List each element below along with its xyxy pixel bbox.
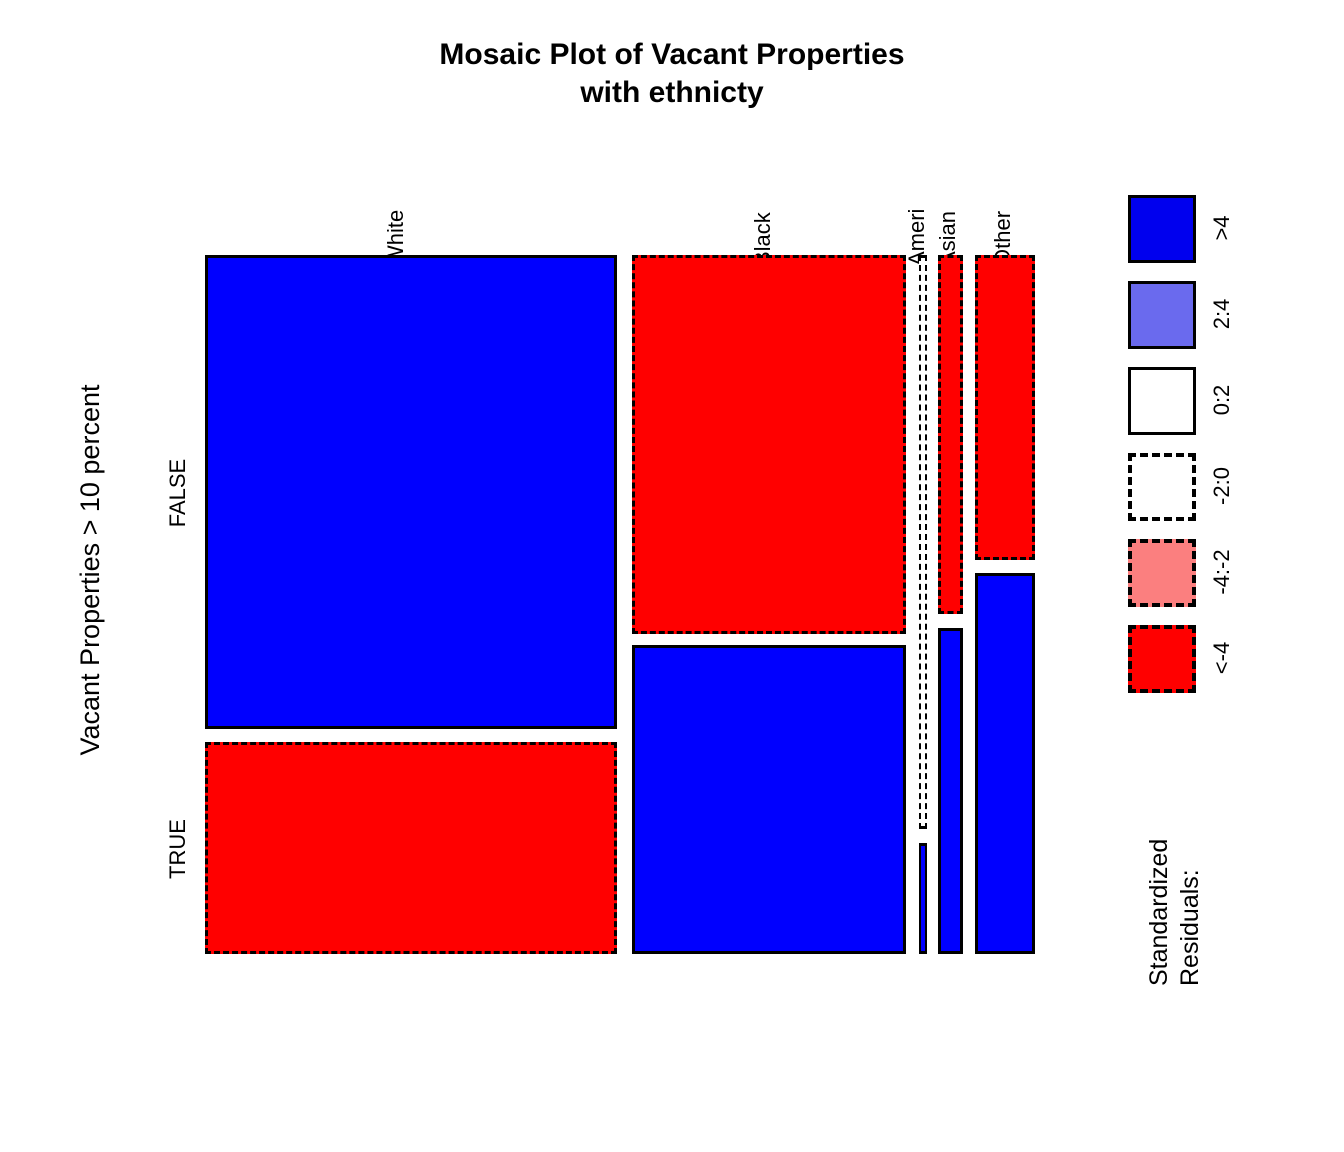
legend-swatch-4[interactable] <box>1128 539 1196 607</box>
legend-swatch-1[interactable] <box>1128 281 1196 349</box>
y-axis-label: Vacant Properties > 10 percent <box>75 310 105 830</box>
legend-swatch-2[interactable] <box>1128 367 1196 435</box>
legend-title-line-1: Standardized <box>1144 786 1175 986</box>
mosaic-tile-asian-false[interactable] <box>938 255 963 614</box>
mosaic-tile-white-false[interactable] <box>205 255 617 729</box>
mosaic-tile-other-true[interactable] <box>975 573 1035 954</box>
legend-label-3: -2:0 <box>1209 441 1235 531</box>
legend-label-4: -4:-2 <box>1209 527 1235 617</box>
row-label-false: FALSE <box>165 453 191 533</box>
mosaic-tile-black-true[interactable] <box>632 645 906 954</box>
chart-title-line-1: Mosaic Plot of Vacant Properties <box>439 38 904 71</box>
mosaic-tile-other-false[interactable] <box>975 255 1035 560</box>
legend-swatch-0[interactable] <box>1128 195 1196 263</box>
legend-label-5: <-4 <box>1209 613 1235 703</box>
mosaic-tile-asian-true[interactable] <box>938 628 963 954</box>
legend-title-line-2: Residuals: <box>1175 786 1206 986</box>
legend-label-1: 2:4 <box>1209 269 1235 359</box>
legend-label-0: >4 <box>1209 183 1235 273</box>
mosaic-tile-ameri-false[interactable] <box>919 255 927 829</box>
chart-title: Mosaic Plot of Vacant Properties with et… <box>0 36 1344 112</box>
legend-swatch-3[interactable] <box>1128 453 1196 521</box>
legend-swatch-5[interactable] <box>1128 625 1196 693</box>
legend-label-2: 0:2 <box>1209 355 1235 445</box>
row-label-true: TRUE <box>165 812 191 886</box>
mosaic-tile-black-false[interactable] <box>632 255 906 634</box>
chart-title-line-2: with ethnicty <box>0 74 1344 112</box>
mosaic-plot-canvas: Mosaic Plot of Vacant Properties with et… <box>0 0 1344 1152</box>
mosaic-tile-white-true[interactable] <box>205 742 617 954</box>
legend-title: Standardized Residuals: <box>1144 786 1206 986</box>
mosaic-tile-ameri-true[interactable] <box>919 843 927 954</box>
